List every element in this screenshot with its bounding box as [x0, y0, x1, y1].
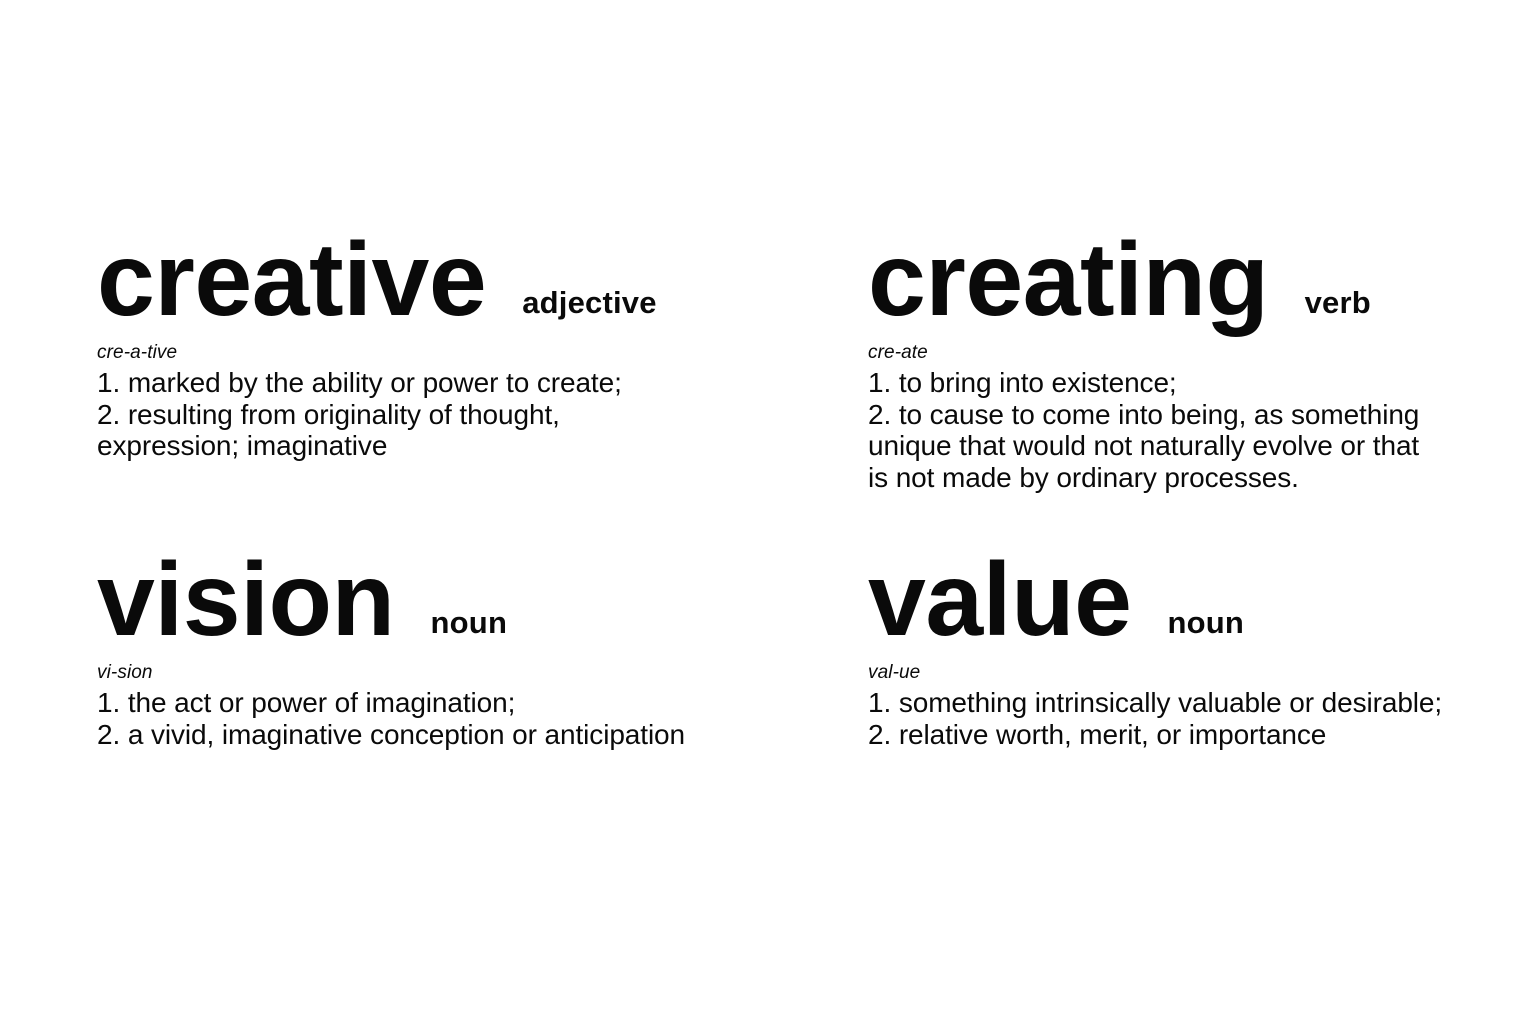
sense-item: 1. the act or power of imagination; [97, 687, 797, 719]
senses-vision: 1. the act or power of imagination; 2. a… [97, 687, 797, 750]
definition-entry-creating: creating verb cre-ate 1. to bring into e… [868, 228, 1508, 493]
definition-entries-grid: creative adjective cre-a-tive 1. marked … [0, 0, 1536, 1024]
pronunciation-value: val-ue [868, 662, 1508, 684]
part-of-speech-vision: noun [431, 607, 508, 638]
pronunciation-creative: cre-a-tive [97, 342, 797, 364]
headword-creative: creative [97, 228, 486, 332]
sense-item: 2. relative worth, merit, or importance [868, 719, 1508, 751]
sense-item: 1. to bring into existence; [868, 367, 1508, 399]
headword-vision: vision [97, 548, 395, 652]
part-of-speech-creating: verb [1305, 287, 1371, 318]
senses-value: 1. something intrinsically valuable or d… [868, 687, 1508, 750]
definition-entry-value: value noun val-ue 1. something intrinsic… [868, 548, 1508, 750]
part-of-speech-creative: adjective [522, 287, 657, 318]
sense-item: 2. to cause to come into being, as somet… [868, 399, 1508, 494]
headword-line: creating verb [868, 228, 1508, 332]
definition-entry-creative: creative adjective cre-a-tive 1. marked … [97, 228, 797, 462]
sense-item: 1. marked by the ability or power to cre… [97, 367, 797, 399]
sense-item: 1. something intrinsically valuable or d… [868, 687, 1508, 719]
senses-creating: 1. to bring into existence; 2. to cause … [868, 367, 1508, 493]
pronunciation-creating: cre-ate [868, 342, 1508, 364]
definition-entry-vision: vision noun vi-sion 1. the act or power … [97, 548, 797, 750]
sense-item: 2. a vivid, imaginative conception or an… [97, 719, 797, 751]
headword-line: vision noun [97, 548, 797, 652]
definition-poster: creative adjective cre-a-tive 1. marked … [0, 0, 1536, 1024]
headword-line: creative adjective [97, 228, 797, 332]
part-of-speech-value: noun [1167, 607, 1244, 638]
pronunciation-vision: vi-sion [97, 662, 797, 684]
headword-value: value [868, 548, 1131, 652]
sense-item: 2. resulting from originality of thought… [97, 399, 797, 462]
headword-creating: creating [868, 228, 1269, 332]
headword-line: value noun [868, 548, 1508, 652]
senses-creative: 1. marked by the ability or power to cre… [97, 367, 797, 462]
